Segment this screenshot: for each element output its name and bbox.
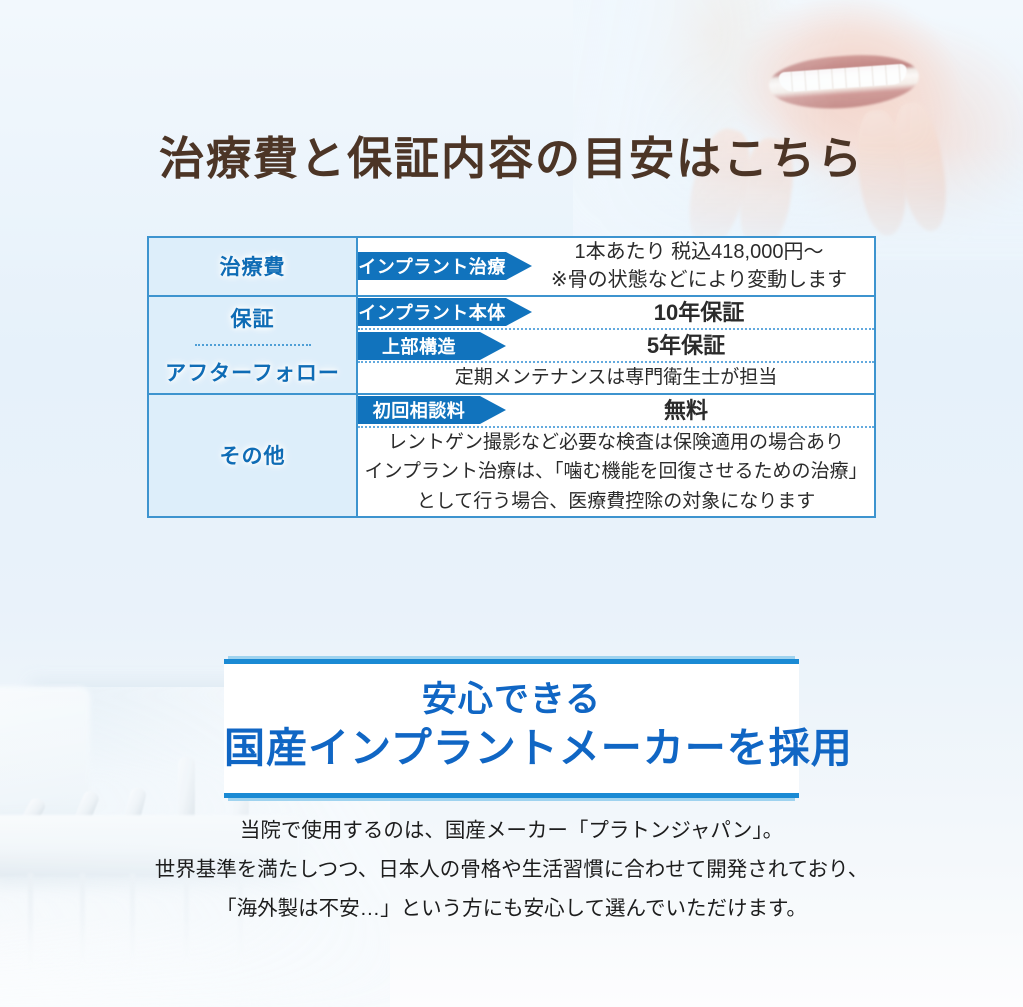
warranty-superstructure-value: 5年保証 [480,330,874,361]
row-header-label-other: その他 [220,445,286,468]
row-header-divider [195,344,311,346]
other-note-line-2: インプラント治療は、「噛む機能を回復させるための治療」 [358,457,874,486]
first-consultation-cell: 初回相談料 無料 [357,394,874,427]
lead-line-2: 世界基準を満たしつつ、日本人の骨格や生活習慣に合わせて開発されており、 [0,851,1023,890]
cost-value-line-1: 1本あたり 税込418,000円〜 [530,238,868,266]
row-header-warranty: 保証 アフターフォロー [149,296,357,394]
warranty-implant-cell: インプラント本体 10年保証 [357,296,874,329]
row-header-label-warranty: 保証 [231,303,275,333]
row-header-label-after-follow: アフターフォロー [165,357,340,387]
after-follow-note: 定期メンテナンスは専門衛生士が担当 [357,362,874,393]
other-note: レントゲン撮影など必要な検査は保険適用の場合あり インプラント治療は、「噛む機能… [357,427,874,516]
tag-implant-treatment: インプラント治療 [358,252,506,280]
cost-value: 1本あたり 税込418,000円〜 ※骨の状態などにより変動します [506,238,874,295]
photo-teeth [778,64,907,93]
lead-paragraph: 当院で使用するのは、国産メーカー「プラトンジャパン」。 世界基準を満たしつつ、日… [0,812,1023,929]
row-header-label: 治療費 [220,256,286,279]
cost-value-line-2: ※骨の状態などにより変動します [530,266,868,294]
photo-mouth [767,51,920,113]
lead-line-1: 当院で使用するのは、国産メーカー「プラトンジャパン」。 [0,812,1023,851]
table-row: 治療費 インプラント治療 1本あたり 税込418,000円〜 ※骨の状態などによ… [149,238,874,296]
tag-superstructure: 上部構造 [358,332,480,360]
warranty-superstructure-cell: 上部構造 5年保証 [357,329,874,362]
banner-line-2: 国産インプラントメーカーを採用 [224,722,799,775]
banner-line-1: 安心できる [224,678,799,722]
cost-cell: インプラント治療 1本あたり 税込418,000円〜 ※骨の状態などにより変動し… [357,238,874,296]
tag-first-consultation: 初回相談料 [358,396,480,424]
row-header-cost: 治療費 [149,238,357,296]
page-root: 治療費と保証内容の目安はこちら 治療費 インプラント治療 1本あたり 税込418… [0,0,1023,1007]
lead-line-3: 「海外製は不安…」という方にも安心して選んでいただけます。 [0,890,1023,929]
domestic-maker-banner: 安心できる 国産インプラントメーカーを採用 [224,659,799,798]
tag-implant-body: インプラント本体 [358,298,506,326]
warranty-implant-value: 10年保証 [506,297,874,328]
price-warranty-table: 治療費 インプラント治療 1本あたり 税込418,000円〜 ※骨の状態などによ… [147,236,876,518]
table-row: 保証 アフターフォロー インプラント本体 10年保証 [149,296,874,329]
first-consultation-value: 無料 [480,395,874,426]
other-note-line-1: レントゲン撮影など必要な検査は保険適用の場合あり [358,428,874,457]
other-note-line-3: として行う場合、医療費控除の対象になります [358,487,874,516]
row-header-other: その他 [149,394,357,517]
table-row: その他 初回相談料 無料 [149,394,874,427]
page-title: 治療費と保証内容の目安はこちら [0,122,1023,187]
